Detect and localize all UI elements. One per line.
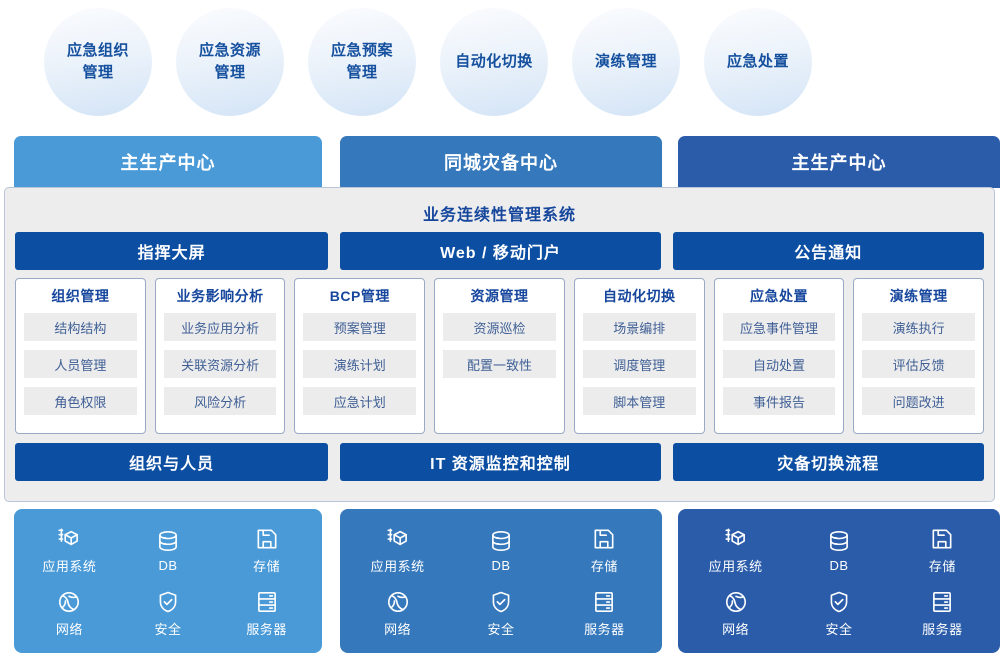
- bar-dr-switchover-process[interactable]: 灾备切换流程: [673, 443, 984, 481]
- center-header-metro-dr[interactable]: 同城灾备中心: [340, 136, 662, 188]
- card-drill-management[interactable]: 演练管理 演练执行 评估反馈 问题改进: [853, 278, 984, 434]
- card-item[interactable]: 问题改进: [862, 387, 975, 415]
- bar-label: 灾备切换流程: [777, 450, 879, 474]
- security-shield-icon: [826, 589, 852, 615]
- bar-label: 指挥大屏: [138, 239, 206, 263]
- infra-item-network[interactable]: 网络: [722, 589, 749, 638]
- card-item[interactable]: 关联资源分析: [164, 350, 277, 378]
- database-icon: [155, 528, 181, 554]
- center-header-label: 主生产中心: [792, 149, 887, 175]
- application-system-icon: [723, 526, 749, 552]
- card-item[interactable]: 调度管理: [583, 350, 696, 378]
- infra-item-security[interactable]: 安全: [154, 589, 181, 638]
- infra-panel-primary-production-2: 应用系统 DB 存储: [678, 509, 1000, 653]
- bubble-emergency-plan[interactable]: 应急预案管理: [308, 8, 416, 116]
- infra-item-network[interactable]: 网络: [56, 589, 83, 638]
- bar-organization-and-personnel[interactable]: 组织与人员: [15, 443, 328, 481]
- storage-icon: [591, 526, 617, 552]
- bar-label: Web / 移动门户: [440, 239, 561, 263]
- card-item[interactable]: 脚本管理: [583, 387, 696, 415]
- network-icon: [723, 589, 749, 615]
- card-item[interactable]: 自动处置: [723, 350, 836, 378]
- center-header-primary-production[interactable]: 主生产中心: [14, 136, 322, 188]
- card-organization-management[interactable]: 组织管理 结构结构 人员管理 角色权限: [15, 278, 146, 434]
- card-title: 业务影响分析: [177, 286, 264, 306]
- infra-item-label: 服务器: [922, 619, 963, 638]
- card-bcp-management[interactable]: BCP管理 预案管理 演练计划 应急计划: [294, 278, 425, 434]
- card-title: 自动化切换: [603, 286, 676, 306]
- application-system-icon: [385, 526, 411, 552]
- infra-item-server[interactable]: 服务器: [246, 589, 287, 638]
- capability-layer-bars: 组织与人员 IT 资源监控和控制 灾备切换流程: [5, 443, 994, 481]
- center-header-label: 主生产中心: [121, 149, 216, 175]
- database-icon: [488, 528, 514, 554]
- infrastructure-panels: 应用系统 DB 存储: [0, 509, 1000, 653]
- network-icon: [56, 589, 82, 615]
- card-title: 演练管理: [890, 286, 948, 306]
- card-item[interactable]: 场景编排: [583, 313, 696, 341]
- presentation-layer-bars: 指挥大屏 Web / 移动门户 公告通知: [5, 232, 994, 270]
- infra-item-label: 服务器: [246, 619, 287, 638]
- infra-item-security[interactable]: 安全: [487, 589, 514, 638]
- card-item[interactable]: 应急事件管理: [723, 313, 836, 341]
- card-item[interactable]: 业务应用分析: [164, 313, 277, 341]
- card-automatic-switchover[interactable]: 自动化切换 场景编排 调度管理 脚本管理: [574, 278, 705, 434]
- bubble-label: 演练管理: [595, 51, 657, 73]
- server-rack-icon: [591, 589, 617, 615]
- center-header-primary-production-2[interactable]: 主生产中心: [678, 136, 1000, 188]
- network-icon: [385, 589, 411, 615]
- infra-panel-primary-production: 应用系统 DB 存储: [14, 509, 322, 653]
- card-item[interactable]: 应急计划: [303, 387, 416, 415]
- infra-item-label: 网络: [56, 619, 83, 638]
- infra-item-label: 存储: [929, 556, 956, 575]
- infra-item-label: DB: [491, 558, 510, 573]
- card-emergency-response[interactable]: 应急处置 应急事件管理 自动处置 事件报告: [714, 278, 845, 434]
- infra-item-application-system[interactable]: 应用系统: [42, 526, 96, 575]
- infra-item-server[interactable]: 服务器: [584, 589, 625, 638]
- server-rack-icon: [254, 589, 280, 615]
- bar-label: 组织与人员: [129, 450, 214, 474]
- card-business-impact-analysis[interactable]: 业务影响分析 业务应用分析 关联资源分析 风险分析: [155, 278, 286, 434]
- card-item[interactable]: 结构结构: [24, 313, 137, 341]
- bar-label: IT 资源监控和控制: [430, 450, 571, 474]
- infra-item-storage[interactable]: 存储: [591, 526, 618, 575]
- bubble-emergency-resource[interactable]: 应急资源管理: [176, 8, 284, 116]
- infra-panel-metro-dr: 应用系统 DB 存储: [340, 509, 662, 653]
- bar-command-screen[interactable]: 指挥大屏: [15, 232, 328, 270]
- card-resource-management[interactable]: 资源管理 资源巡检 配置一致性: [434, 278, 565, 434]
- data-center-headers: 主生产中心 同城灾备中心 主生产中心: [0, 136, 1000, 188]
- infra-item-security[interactable]: 安全: [825, 589, 852, 638]
- bubble-label: 应急处置: [727, 51, 789, 73]
- server-rack-icon: [929, 589, 955, 615]
- bubble-label: 自动化切换: [455, 51, 533, 73]
- infra-item-label: 安全: [154, 619, 181, 638]
- card-item[interactable]: 人员管理: [24, 350, 137, 378]
- emergency-capability-bubbles: 应急组织管理 应急资源管理 应急预案管理 自动化切换 演练管理 应急处置: [0, 0, 1000, 124]
- center-header-label: 同城灾备中心: [444, 149, 558, 175]
- bubble-automatic-switch[interactable]: 自动化切换: [440, 8, 548, 116]
- card-item[interactable]: 角色权限: [24, 387, 137, 415]
- infra-item-storage[interactable]: 存储: [253, 526, 280, 575]
- bar-it-resource-monitoring-control[interactable]: IT 资源监控和控制: [340, 443, 660, 481]
- infra-item-label: 网络: [722, 619, 749, 638]
- infra-item-label: DB: [829, 558, 848, 573]
- card-item[interactable]: 配置一致性: [443, 350, 556, 378]
- infra-item-application-system[interactable]: 应用系统: [709, 526, 763, 575]
- infra-item-label: 存储: [253, 556, 280, 575]
- storage-icon: [929, 526, 955, 552]
- infra-item-label: 存储: [591, 556, 618, 575]
- security-shield-icon: [488, 589, 514, 615]
- bubble-label: 应急资源管理: [199, 40, 261, 84]
- panel-title: 业务连续性管理系统: [5, 196, 994, 230]
- bcm-system-panel: 业务连续性管理系统 指挥大屏 Web / 移动门户 公告通知 组织管理 结构结构…: [4, 187, 995, 502]
- database-icon: [826, 528, 852, 554]
- storage-icon: [254, 526, 280, 552]
- card-item[interactable]: 评估反馈: [862, 350, 975, 378]
- bar-announcement-notification[interactable]: 公告通知: [673, 232, 984, 270]
- bar-label: 公告通知: [794, 239, 862, 263]
- card-title: 组织管理: [51, 286, 109, 306]
- bubble-drill-management[interactable]: 演练管理: [572, 8, 680, 116]
- card-title: 应急处置: [750, 286, 808, 306]
- infra-item-label: 应用系统: [371, 556, 425, 575]
- bubble-label: 应急预案管理: [331, 40, 393, 84]
- card-item[interactable]: 演练执行: [862, 313, 975, 341]
- card-item[interactable]: 资源巡检: [443, 313, 556, 341]
- bar-web-mobile-portal[interactable]: Web / 移动门户: [340, 232, 660, 270]
- security-shield-icon: [155, 589, 181, 615]
- card-item[interactable]: 预案管理: [303, 313, 416, 341]
- card-item[interactable]: 事件报告: [723, 387, 836, 415]
- module-cards-row: 组织管理 结构结构 人员管理 角色权限 业务影响分析 业务应用分析 关联资源分析…: [5, 278, 994, 434]
- infra-item-label: DB: [158, 558, 177, 573]
- infra-item-database[interactable]: DB: [155, 528, 181, 573]
- bubble-label: 应急组织管理: [67, 40, 129, 84]
- card-title: 资源管理: [471, 286, 529, 306]
- card-title: BCP管理: [330, 286, 390, 306]
- infra-item-database[interactable]: DB: [488, 528, 514, 573]
- infra-item-label: 安全: [487, 619, 514, 638]
- application-system-icon: [56, 526, 82, 552]
- infra-item-label: 应用系统: [42, 556, 96, 575]
- infra-item-server[interactable]: 服务器: [922, 589, 963, 638]
- infra-item-network[interactable]: 网络: [384, 589, 411, 638]
- infra-item-database[interactable]: DB: [826, 528, 852, 573]
- bubble-emergency-organization[interactable]: 应急组织管理: [44, 8, 152, 116]
- card-item[interactable]: 演练计划: [303, 350, 416, 378]
- infra-item-storage[interactable]: 存储: [929, 526, 956, 575]
- infra-item-application-system[interactable]: 应用系统: [371, 526, 425, 575]
- card-item[interactable]: 风险分析: [164, 387, 277, 415]
- infra-item-label: 安全: [825, 619, 852, 638]
- infra-item-label: 网络: [384, 619, 411, 638]
- infra-item-label: 应用系统: [709, 556, 763, 575]
- infra-item-label: 服务器: [584, 619, 625, 638]
- bubble-emergency-response[interactable]: 应急处置: [704, 8, 812, 116]
